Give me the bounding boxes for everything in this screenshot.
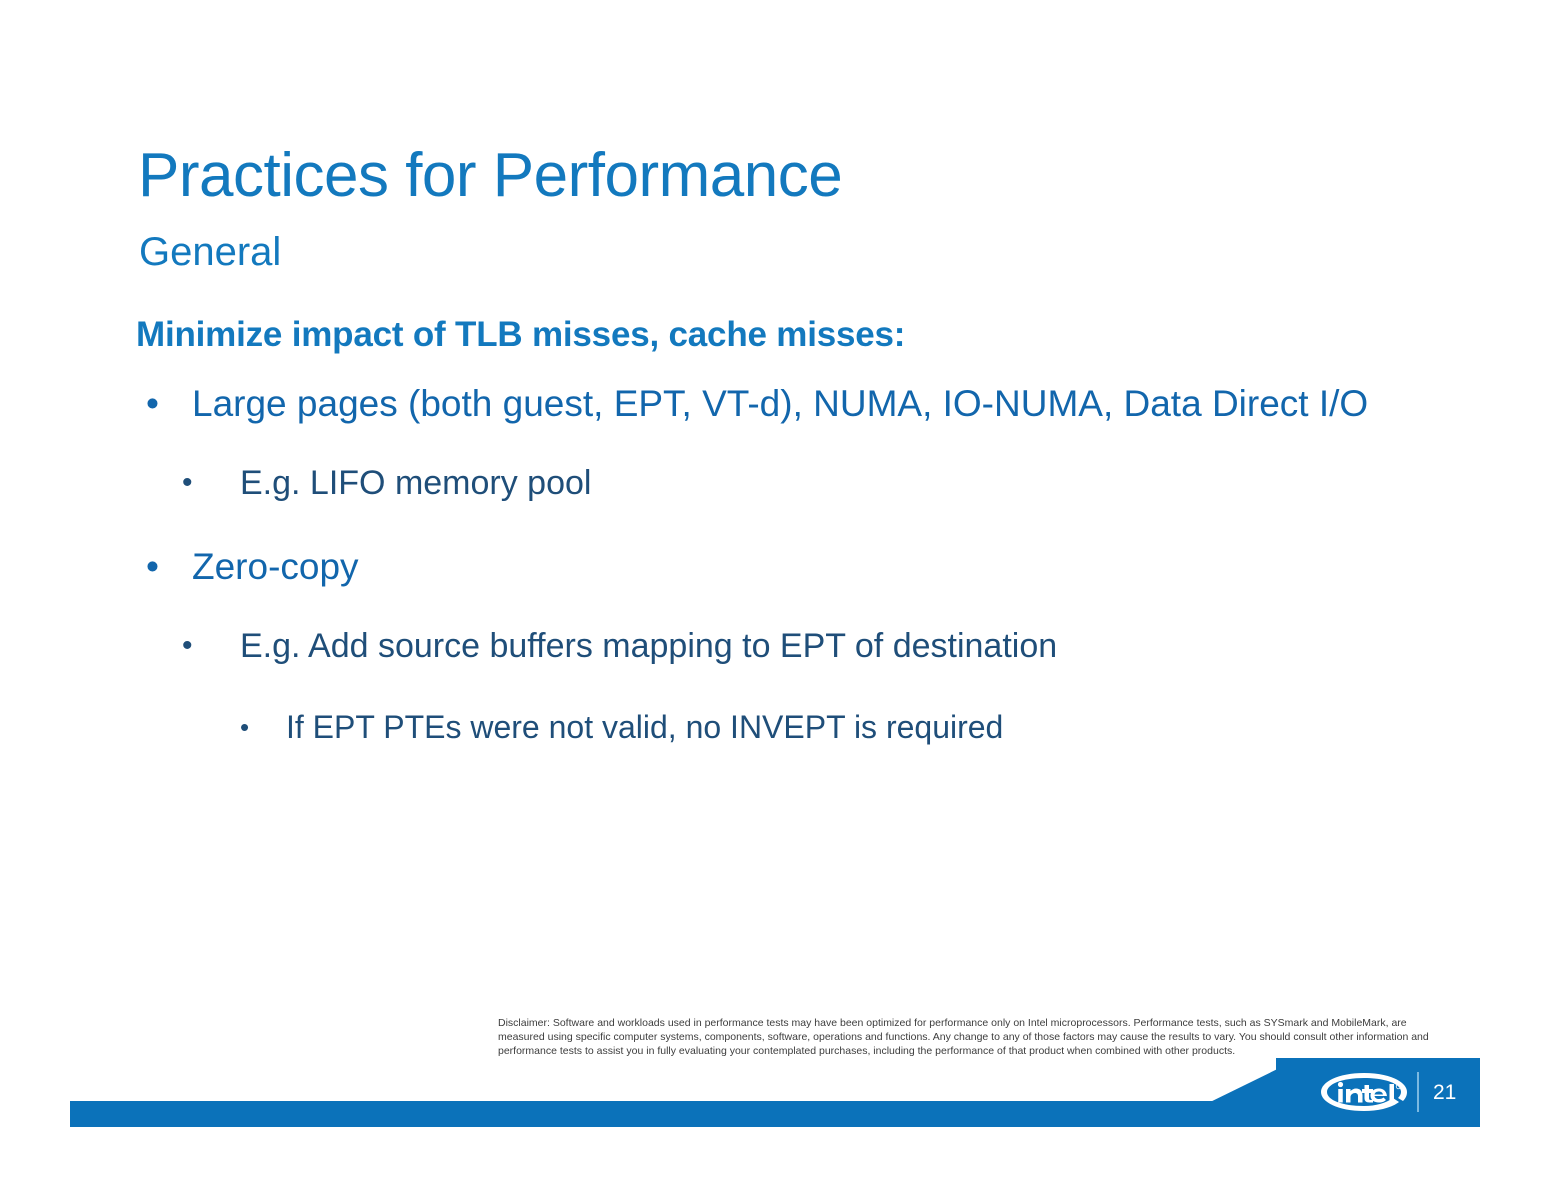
list-item: • E.g. Add source buffers mapping to EPT… [136,622,1426,670]
footer-bar [70,1101,1240,1127]
list-item-label: E.g. LIFO memory pool [240,464,591,502]
lead-heading: Minimize impact of TLB misses, cache mis… [136,312,1426,358]
list-item-label: If EPT PTEs were not valid, no INVEPT is… [286,709,1003,745]
footer-divider [1417,1072,1419,1112]
slide-body: Minimize impact of TLB misses, cache mis… [136,312,1426,762]
list-item: • Large pages (both guest, EPT, VT-d), N… [136,378,1426,429]
bullet-dot-icon: • [240,704,249,750]
bullet-dot-icon: • [146,541,159,592]
list-item-label: Zero-copy [192,546,359,587]
disclaimer-text: Disclaimer: Software and workloads used … [498,1016,1443,1059]
bullet-dot-icon: • [182,459,193,507]
page-title: Practices for Performance [138,140,842,212]
list-item: • E.g. LIFO memory pool [136,459,1426,507]
page-subtitle: General [139,228,281,276]
list-item-label: E.g. Add source buffers mapping to EPT o… [240,627,1057,665]
list-item: • If EPT PTEs were not valid, no INVEPT … [136,704,1426,750]
slide-number: 21 [1433,1081,1473,1105]
bullet-dot-icon: • [182,622,193,670]
bullet-dot-icon: • [146,378,159,429]
intel-logo [1318,1070,1410,1114]
slide-canvas: Practices for Performance General Minimi… [0,0,1552,1199]
list-item: • Zero-copy [136,541,1426,592]
list-item-label: Large pages (both guest, EPT, VT-d), NUM… [192,383,1368,424]
